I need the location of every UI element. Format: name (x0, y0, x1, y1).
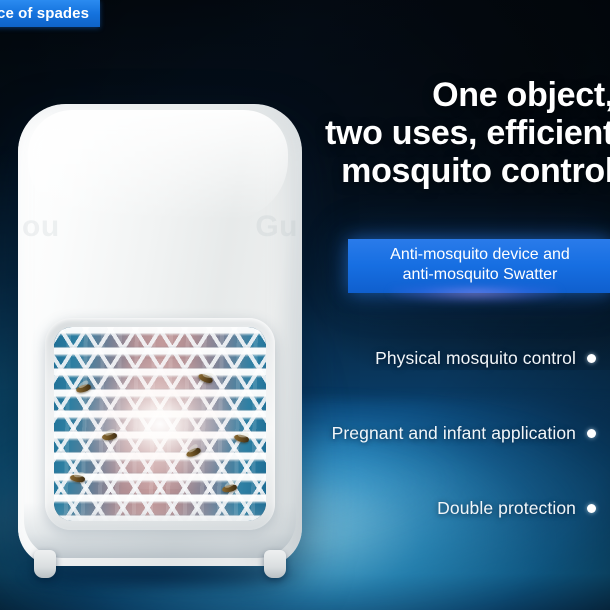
device-foot-left (34, 550, 56, 578)
bullet-dot-icon (587, 429, 596, 438)
headline-line-3: mosquito control (294, 152, 610, 190)
device-top-highlight (28, 110, 288, 220)
watermark-right: Gu (255, 210, 298, 244)
bullet-dot-icon (587, 504, 596, 513)
product-banner: ce of spades ou Gu (0, 0, 610, 610)
grille-frame (45, 318, 275, 530)
feature-label: Double protection (437, 498, 576, 519)
subtitle-line-2: anti-mosquito Swatter (358, 265, 602, 285)
headline-line-1: One object, (294, 76, 610, 114)
feature-item-pregnant-infant: Pregnant and infant application (310, 423, 596, 444)
product-device: ou Gu (18, 104, 302, 574)
marketing-copy: One object, two uses, efficient mosquito… (310, 0, 610, 610)
feature-item-physical-control: Physical mosquito control (310, 348, 596, 369)
headline: One object, two uses, efficient mosquito… (294, 76, 610, 190)
device-body: ou Gu (18, 104, 302, 566)
bullet-dot-icon (587, 354, 596, 363)
grille-panel (54, 327, 266, 521)
device-foot-right (264, 550, 286, 578)
top-left-badge[interactable]: ce of spades (0, 0, 100, 27)
device-watermark: ou Gu (18, 210, 302, 244)
louver-slats (54, 327, 266, 521)
feature-label: Physical mosquito control (375, 348, 576, 369)
watermark-left: ou (22, 210, 60, 244)
subtitle-banner: Anti-mosquito device and anti-mosquito S… (348, 239, 610, 293)
top-left-badge-label: ce of spades (0, 5, 89, 22)
feature-item-double-protection: Double protection (310, 498, 596, 519)
subtitle-line-1: Anti-mosquito device and (358, 245, 602, 265)
headline-line-2: two uses, efficient (294, 114, 610, 152)
feature-list: Physical mosquito control Pregnant and i… (310, 348, 596, 573)
feature-label: Pregnant and infant application (332, 423, 576, 444)
